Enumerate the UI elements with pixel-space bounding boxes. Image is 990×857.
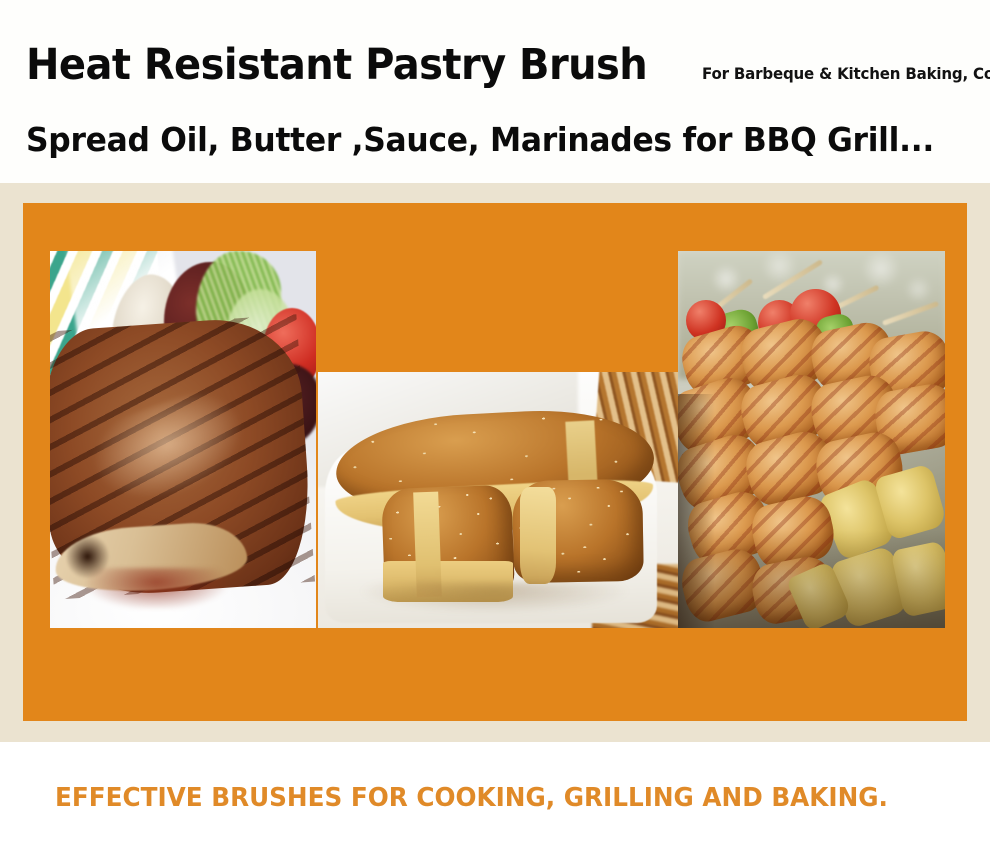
orange-photo-panel xyxy=(23,203,967,721)
bread-shadow-shape xyxy=(361,582,628,613)
sauce-pool-shape xyxy=(87,568,225,609)
headline-subtitle: Spread Oil, Butter ,Sauce, Marinades for… xyxy=(26,123,934,156)
product-banner: Heat Resistant Pastry Brush For Barbeque… xyxy=(0,0,990,857)
photo-grilled-steak xyxy=(50,251,316,628)
banner-header: Heat Resistant Pastry Brush For Barbeque… xyxy=(0,0,990,183)
bottom-shadow-shape xyxy=(678,530,945,628)
bread-wedge-middle-shape xyxy=(520,487,556,584)
page-title: Heat Resistant Pastry Brush xyxy=(26,44,647,87)
photo-sesame-bread-rolls xyxy=(318,372,679,628)
bread-wedge-back-shape xyxy=(565,420,597,488)
photo-grilled-steak-canvas xyxy=(50,251,316,628)
footer-tagline: EFFECTIVE BRUSHES FOR COOKING, GRILLING … xyxy=(55,785,888,811)
headline-row: Heat Resistant Pastry Brush For Barbeque… xyxy=(26,44,990,87)
headline-tagline: For Barbeque & Kitchen Baking, Cooking. xyxy=(702,66,990,82)
photo-bbq-skewers-canvas xyxy=(678,251,945,628)
photo-sesame-bread-rolls-canvas xyxy=(318,372,679,628)
photo-bbq-skewers xyxy=(678,251,945,628)
